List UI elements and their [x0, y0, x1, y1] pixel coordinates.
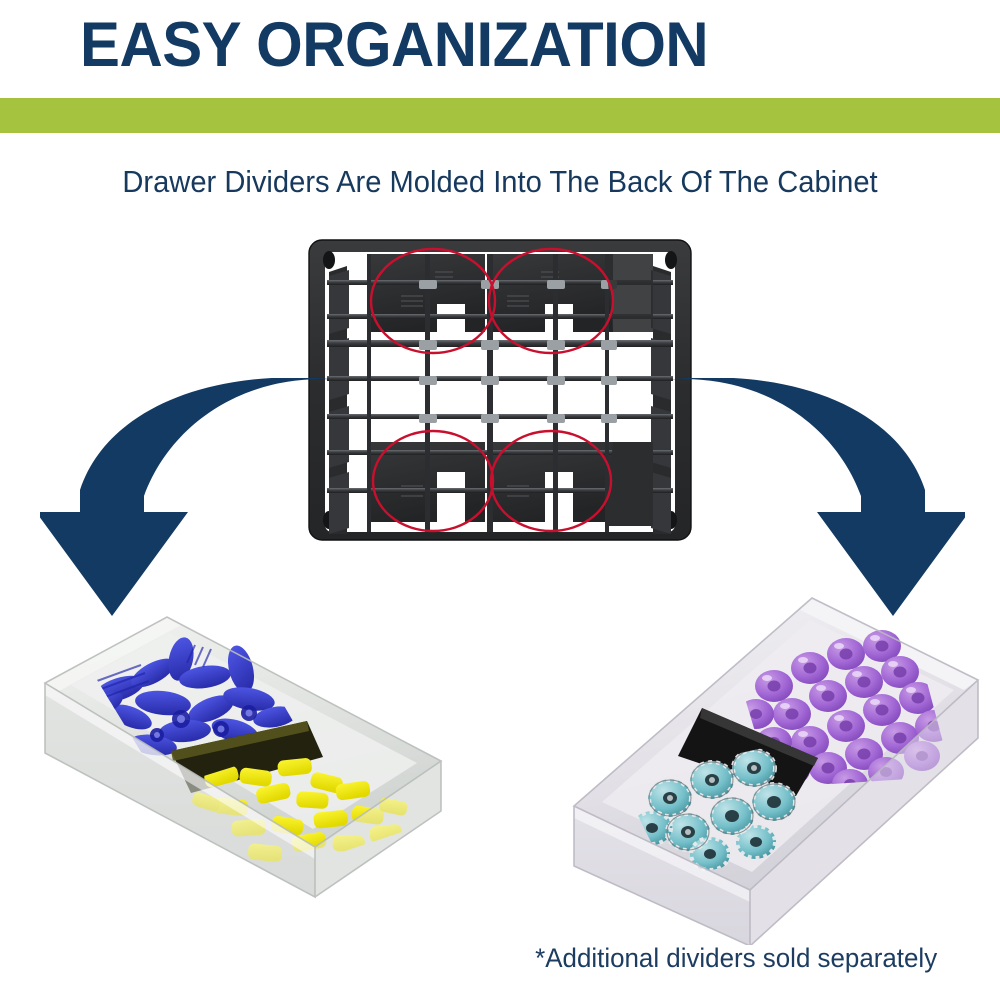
- curved-arrow-down-left-icon: [40, 378, 350, 618]
- drawer-bin-right-svg: [560, 580, 990, 945]
- drawer-bin-left: [35, 585, 455, 915]
- subtitle-text: Drawer Dividers Are Molded Into The Back…: [30, 163, 970, 200]
- arrow-left: [40, 378, 350, 618]
- drawer-bin-right: [560, 580, 990, 945]
- footnote-text: *Additional dividers sold separately: [256, 943, 1000, 974]
- poster-canvas: EASY ORGANIZATION Drawer Dividers Are Mo…: [0, 0, 1000, 1000]
- page-title: EASY ORGANIZATION: [80, 14, 708, 77]
- accent-bar: [0, 98, 1000, 133]
- cabinet-back-panel-svg: [305, 236, 695, 550]
- drawer-bin-left-svg: [35, 585, 455, 915]
- cabinet-illustration: [305, 236, 695, 550]
